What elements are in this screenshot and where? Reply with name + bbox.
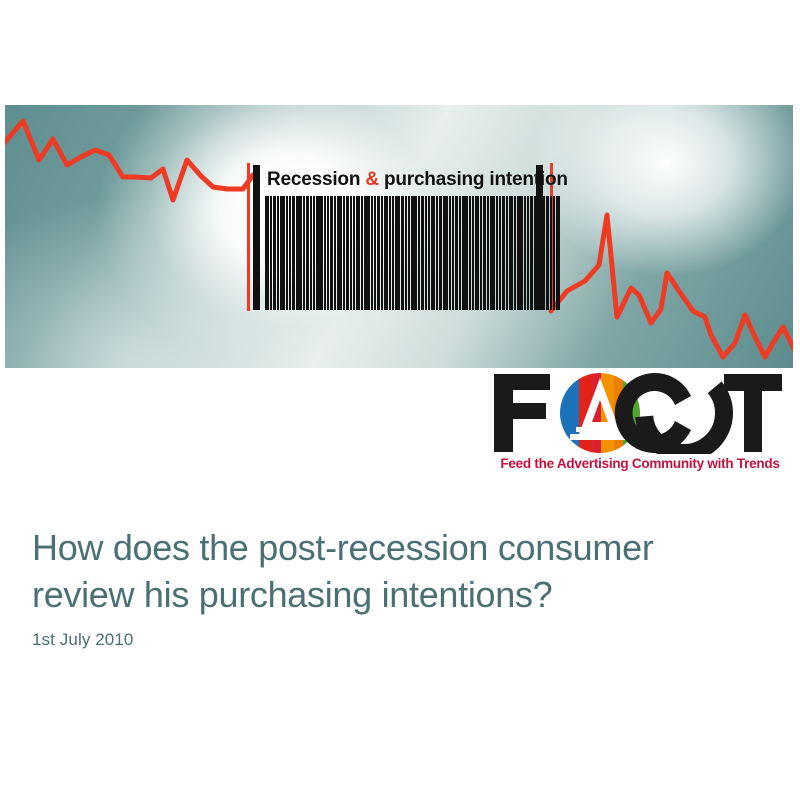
barcode-bar — [405, 196, 407, 310]
barcode-bar — [306, 196, 309, 310]
barcode-bar — [499, 196, 501, 310]
barcode-bar — [506, 196, 508, 310]
barcode-bar — [480, 196, 482, 310]
barcode-bar — [330, 196, 333, 310]
barcode-bar — [431, 196, 435, 310]
barcode-bar — [517, 196, 523, 310]
barcode-bar — [439, 196, 442, 310]
barcode-bar — [462, 196, 468, 310]
barcode-bar — [277, 196, 279, 310]
barcode-bar — [553, 196, 555, 310]
slide-title: How does the post-recession consumer rev… — [32, 524, 762, 618]
barcode-bar — [534, 196, 536, 310]
barcode-bar — [270, 196, 272, 310]
barcode-graphic: Recession & purchasing intention — [247, 163, 555, 311]
barcode-bar — [303, 196, 305, 310]
barcode-bar — [472, 196, 474, 310]
barcode-bar — [546, 196, 549, 310]
barcode-bar — [374, 196, 376, 310]
barcode-bar — [425, 196, 427, 310]
barcode-bar — [436, 196, 438, 310]
barcode-bar — [459, 196, 461, 310]
barcode-red-guard-left — [247, 163, 250, 311]
barcode-bar — [469, 196, 471, 310]
barcode-bar — [543, 196, 545, 310]
barcode-bar — [418, 196, 420, 310]
barcode-caption-ampersand: & — [365, 169, 379, 190]
barcode-bar — [280, 196, 285, 310]
barcode-bar — [537, 196, 542, 310]
barcode-bars — [265, 196, 533, 310]
barcode-bar — [483, 196, 486, 310]
barcode-bar — [421, 196, 424, 310]
barcode-bar — [377, 196, 380, 310]
barcode-bar — [292, 196, 295, 310]
barcode-bar — [289, 196, 291, 310]
barcode-bar — [361, 196, 363, 310]
barcode-bar — [310, 196, 312, 310]
barcode-bar — [428, 196, 430, 310]
barcode-bar — [337, 196, 342, 310]
barcode-bar — [487, 196, 489, 310]
barcode-caption-after: purchasing intention — [379, 169, 568, 190]
barcode-bar — [530, 196, 533, 310]
barcode-bar — [389, 196, 391, 310]
barcode-bar — [408, 196, 410, 310]
barcode-bar — [392, 196, 394, 310]
barcode-bar — [316, 196, 323, 310]
barcode-bar — [496, 196, 498, 310]
barcode-bar — [490, 196, 495, 310]
barcode-caption-before: Recession — [267, 169, 365, 190]
barcode-bar — [452, 196, 454, 310]
barcode-bar — [343, 196, 345, 310]
barcode-bar — [509, 196, 513, 310]
barcode-bar — [371, 196, 373, 310]
barcode-bar — [286, 196, 288, 310]
barcode-bar — [455, 196, 458, 310]
barcode-bar — [381, 196, 383, 310]
barcode-bar — [556, 196, 560, 310]
barcode-bar — [411, 196, 417, 310]
barcode-bar — [475, 196, 479, 310]
title-slide: Recession & purchasing intention — [0, 0, 800, 800]
barcode-bar — [449, 196, 451, 310]
barcode-bar — [273, 196, 276, 310]
barcode-bar — [313, 196, 315, 310]
slide-title-line-2: review his purchasing intentions? — [32, 571, 762, 618]
barcode-bar — [353, 196, 355, 310]
barcode-bar — [265, 196, 269, 310]
barcode-black-guard-left — [253, 165, 260, 310]
chart-line-right — [551, 215, 793, 357]
barcode-bar — [502, 196, 505, 310]
barcode-bar — [364, 196, 370, 310]
barcode-bar — [443, 196, 448, 310]
barcode-bar — [356, 196, 360, 310]
fact-wordmark — [492, 372, 784, 454]
barcode-bar — [550, 196, 552, 310]
barcode-bar — [324, 196, 326, 310]
fact-logo-tagline: Feed the Advertising Community with Tren… — [492, 456, 788, 471]
barcode-bar — [384, 196, 388, 310]
barcode-bar — [350, 196, 352, 310]
barcode-caption: Recession & purchasing intention — [267, 167, 531, 193]
logo-letter-f — [494, 374, 550, 452]
fact-logo: Feed the Advertising Community with Tren… — [492, 372, 792, 478]
barcode-bar — [514, 196, 516, 310]
barcode-bar — [327, 196, 329, 310]
barcode-bar — [334, 196, 336, 310]
slide-title-line-1: How does the post-recession consumer — [32, 524, 762, 571]
barcode-bar — [401, 196, 404, 310]
barcode-bar — [395, 196, 400, 310]
barcode-bar — [524, 196, 526, 310]
barcode-bar — [527, 196, 529, 310]
barcode-bar — [296, 196, 302, 310]
recession-banner-image: Recession & purchasing intention — [5, 105, 793, 368]
chart-line-left — [5, 121, 253, 200]
barcode-bar — [346, 196, 349, 310]
slide-date: 1st July 2010 — [32, 630, 133, 650]
